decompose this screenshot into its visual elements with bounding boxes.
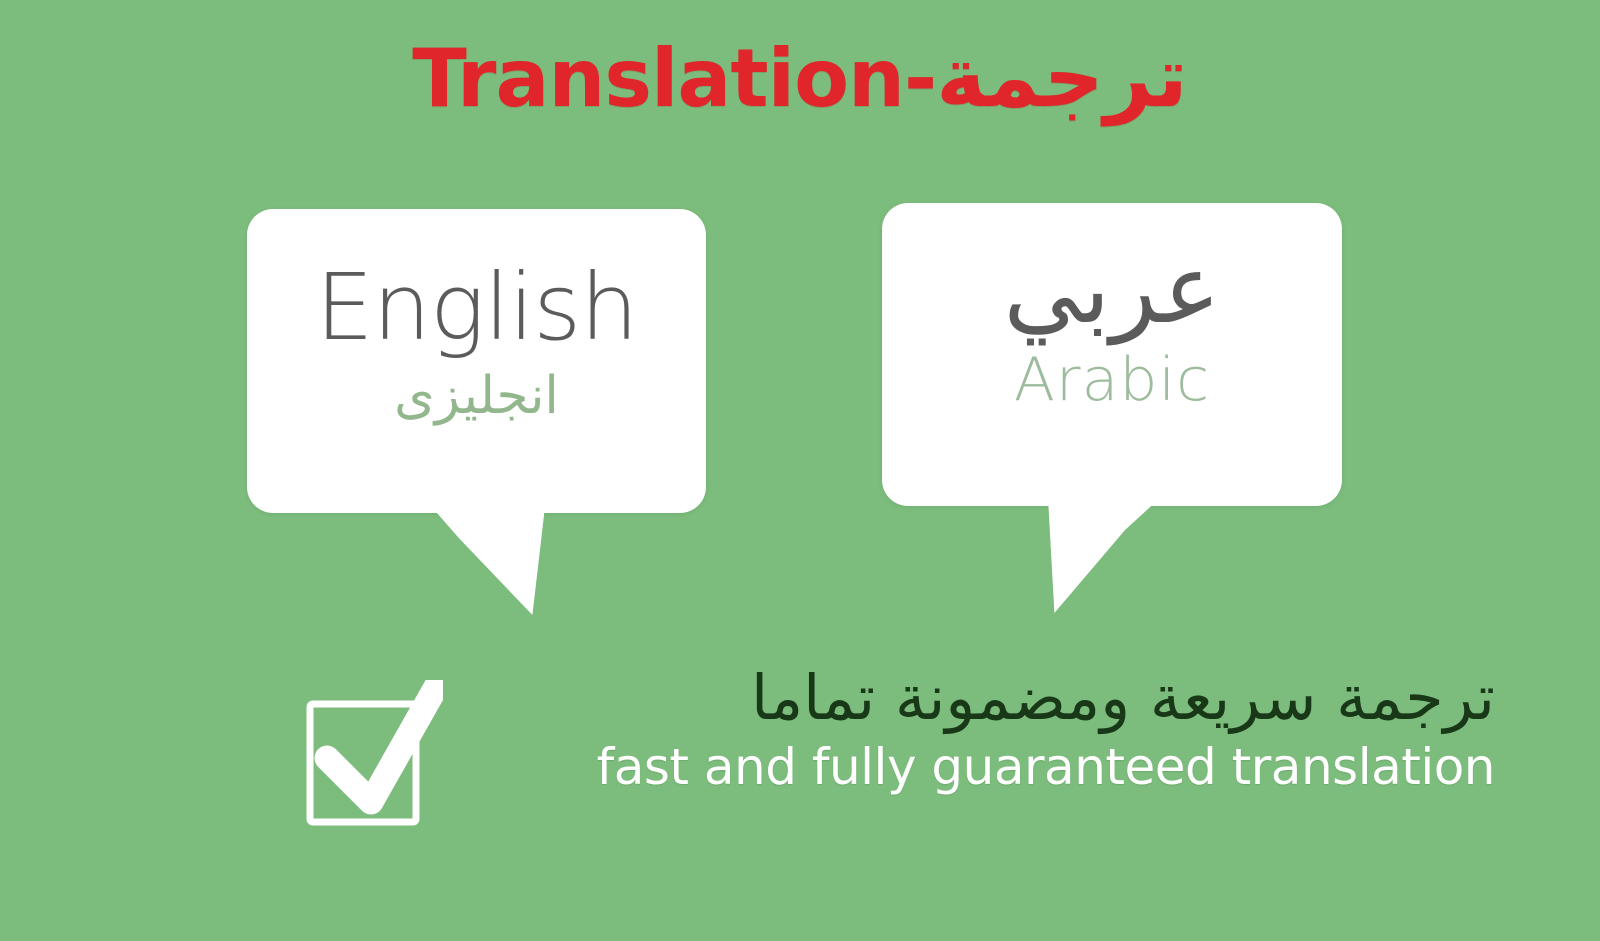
checkbox-checked-icon: [303, 680, 443, 830]
page-title-arabic: ترجمة: [936, 28, 1188, 126]
page-title-latin: Translation: [412, 32, 904, 126]
page-title-separator: -: [904, 32, 936, 126]
speech-bubble-english-tail: [430, 505, 590, 615]
bubble-arabic-main-label: عربي: [882, 241, 1342, 339]
guarantee-row: ترجمة سريعة ومضمونة تماما fast and fully…: [295, 660, 1495, 850]
guarantee-arabic-text: ترجمة سريعة ومضمونة تماما: [475, 660, 1495, 736]
banner-canvas: ترجمة-Translation English انجليزى عربي A…: [0, 0, 1600, 941]
speech-bubble-english[interactable]: English انجليزى: [247, 209, 706, 513]
bubble-arabic-sub-label: Arabic: [882, 349, 1342, 412]
bubble-english-main-label: English: [247, 261, 706, 355]
speech-bubble-arabic-tail: [1000, 498, 1160, 613]
guarantee-english-text: fast and fully guaranteed translation: [475, 740, 1495, 795]
bubble-english-sub-label: انجليزى: [247, 369, 706, 424]
page-title: ترجمة-Translation: [0, 28, 1600, 127]
speech-bubble-arabic[interactable]: عربي Arabic: [882, 203, 1342, 506]
